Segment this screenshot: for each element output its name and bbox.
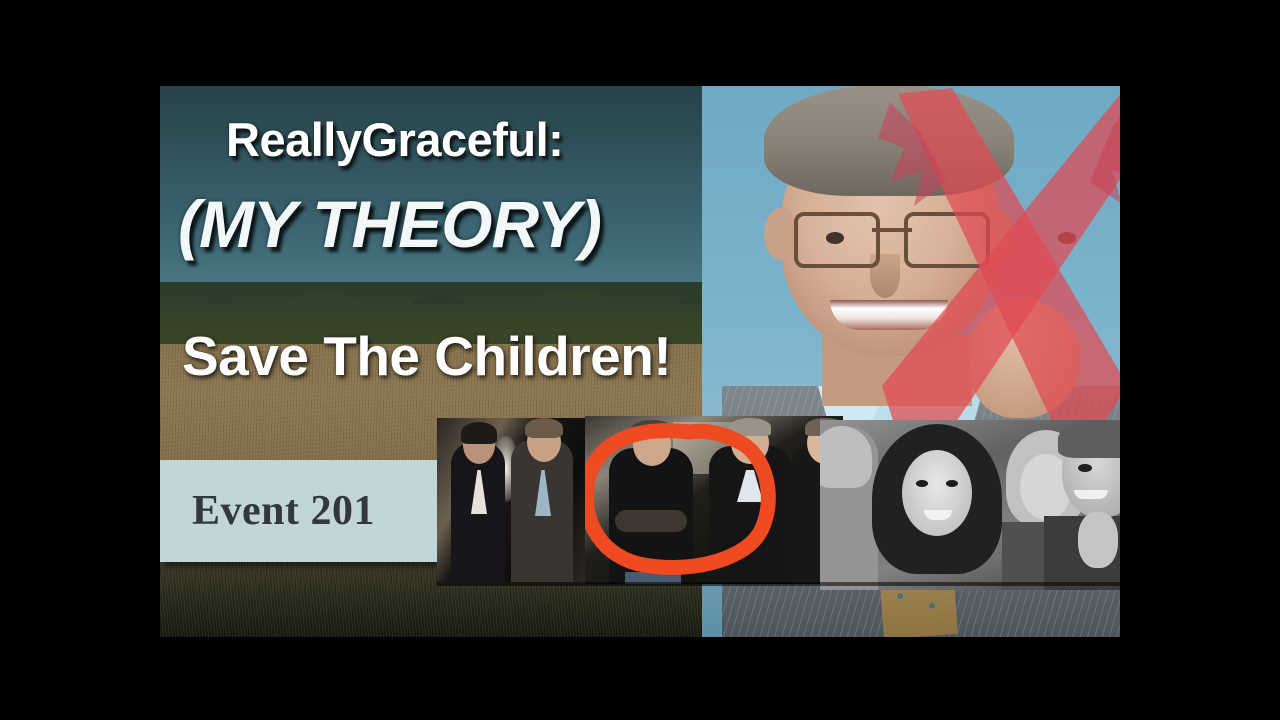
eye-right	[1058, 232, 1076, 244]
photo3-woman-dark-hair	[872, 424, 1002, 590]
theory-title: (MY THEORY)	[178, 186, 601, 262]
event-201-plaque: Event 201	[160, 460, 443, 562]
lens-left	[794, 212, 880, 268]
mouth	[830, 300, 948, 330]
eye-left	[916, 480, 928, 487]
shirt	[737, 470, 763, 502]
photo-crowd-bw	[820, 420, 1120, 590]
photo-strip-seam	[437, 582, 1120, 586]
glasses-bridge	[872, 228, 912, 232]
ear-left	[764, 208, 798, 260]
shirt	[471, 470, 487, 514]
hand	[970, 300, 1080, 418]
eyeglasses-icon	[794, 212, 990, 260]
hair	[461, 422, 497, 444]
hair	[764, 86, 1014, 196]
video-frame[interactable]: ReallyGraceful: (MY THEORY) Save The Chi…	[160, 86, 1120, 637]
headline-title: Save The Children!	[182, 324, 671, 388]
folded-arms	[615, 510, 687, 532]
mouth	[1074, 490, 1108, 499]
photo3-person-far-left	[820, 426, 878, 590]
photo2-person-2	[709, 446, 791, 584]
eye-right	[946, 480, 958, 487]
hair	[820, 426, 872, 488]
photo3-older-man	[1052, 420, 1120, 590]
photo-group-circled	[585, 416, 843, 584]
face	[902, 450, 972, 536]
hand	[1078, 512, 1118, 568]
photo1-person-right	[511, 440, 573, 582]
photo1-person-left	[451, 442, 505, 582]
screenshot-root: ReallyGraceful: (MY THEORY) Save The Chi…	[0, 0, 1280, 720]
hair	[1058, 420, 1120, 458]
channel-title: ReallyGraceful:	[226, 112, 563, 167]
hair	[525, 418, 563, 438]
eye-left	[826, 232, 844, 244]
event-201-label: Event 201	[160, 487, 375, 535]
shirt	[535, 470, 551, 516]
hair	[729, 418, 771, 436]
photo2-person-1	[609, 448, 693, 584]
photo-two-men-suits	[437, 418, 585, 582]
hair	[631, 420, 673, 438]
lens-right	[904, 212, 990, 268]
eye	[1078, 464, 1092, 472]
